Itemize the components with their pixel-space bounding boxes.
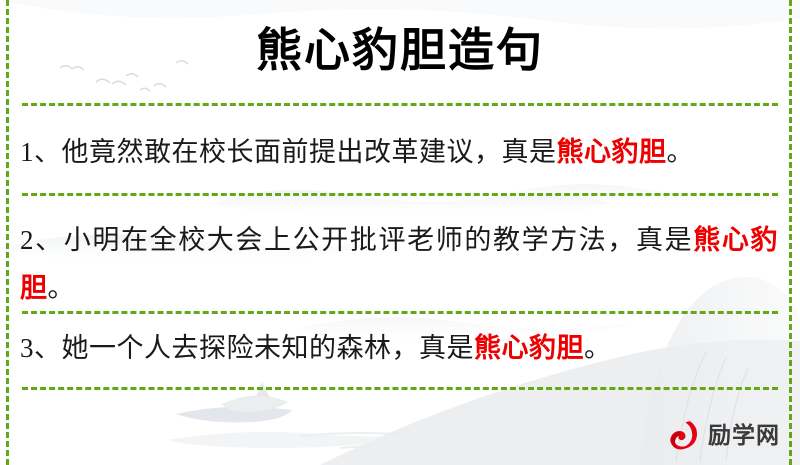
worksheet-page: 熊心豹胆造句 1、他竟然敢在校长面前提出改革建议，真是熊心豹胆。 2、小明在全校… xyxy=(0,0,800,465)
divider-after-item-1 xyxy=(22,193,778,196)
sentence-3-number: 3、 xyxy=(20,333,62,363)
sentence-1-idiom: 熊心豹胆 xyxy=(557,137,667,167)
sentence-3-idiom: 熊心豹胆 xyxy=(474,333,584,363)
flame-swirl-icon xyxy=(670,419,702,451)
site-watermark[interactable]: 励学网 xyxy=(670,419,780,451)
sentence-2-number: 2、 xyxy=(20,225,64,255)
divider-bottom xyxy=(22,387,778,390)
sentence-1-number: 1、 xyxy=(20,137,62,167)
sentence-1-text-before: 他竟然敢在校长面前提出改革建议，真是 xyxy=(62,137,557,167)
sentence-2-text-after: 。 xyxy=(48,273,76,303)
page-title: 熊心豹胆造句 xyxy=(0,22,800,80)
sentence-1-text-after: 。 xyxy=(667,137,695,167)
site-watermark-label: 励学网 xyxy=(708,424,780,447)
sentence-item-2: 2、小明在全校大会上公开批评老师的教学方法，真是熊心豹胆。 xyxy=(20,216,778,312)
sentence-3-text-after: 。 xyxy=(584,333,612,363)
worksheet-content: 熊心豹胆造句 1、他竟然敢在校长面前提出改革建议，真是熊心豹胆。 2、小明在全校… xyxy=(0,0,800,465)
sentence-3-text-before: 她一个人去探险未知的森林，真是 xyxy=(62,333,475,363)
sentence-item-3: 3、她一个人去探险未知的森林，真是熊心豹胆。 xyxy=(20,324,778,372)
sentence-item-1: 1、他竟然敢在校长面前提出改革建议，真是熊心豹胆。 xyxy=(20,128,778,176)
divider-after-item-2 xyxy=(22,311,778,314)
sentence-2-text-before: 小明在全校大会上公开批评老师的教学方法，真是 xyxy=(64,225,694,255)
divider-top xyxy=(22,103,778,106)
